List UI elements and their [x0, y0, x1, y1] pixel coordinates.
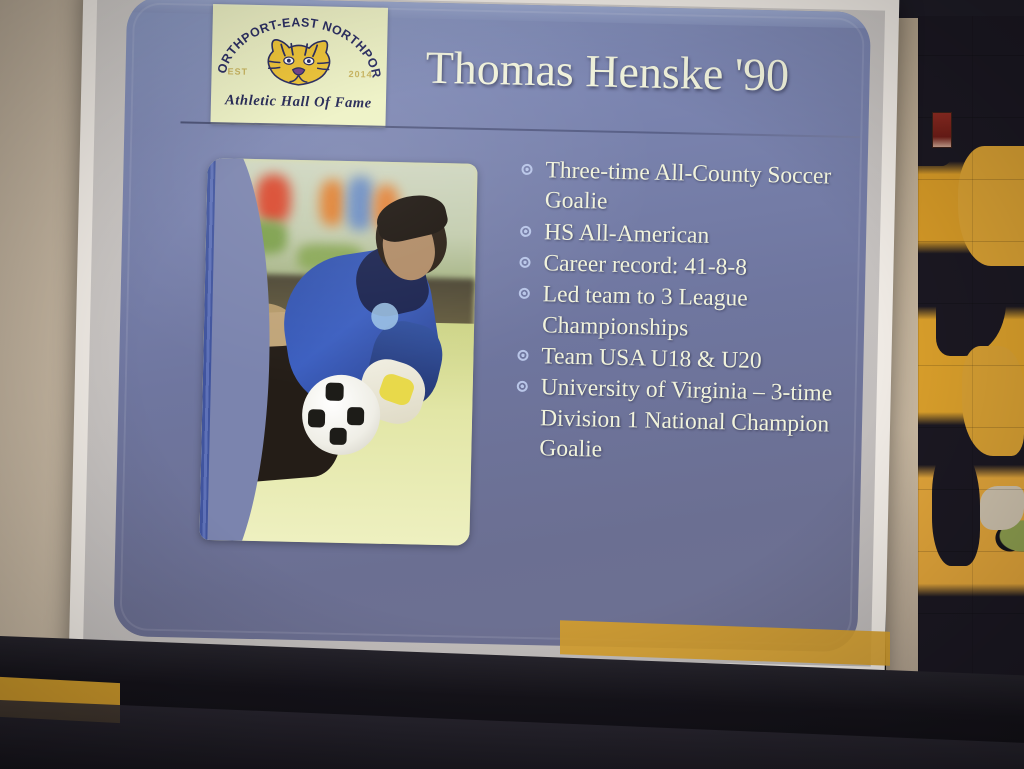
- ball-pentagon: [330, 428, 348, 445]
- bullet-marker-icon: [519, 257, 530, 268]
- ball-pentagon: [326, 382, 344, 400]
- list-item-text: HS All-American: [544, 219, 710, 249]
- logo-year-label: 2014: [348, 69, 372, 80]
- fire-alarm-box: [932, 112, 952, 148]
- title-divider-rule: [180, 121, 860, 138]
- photo-blur-spot: [255, 174, 291, 224]
- ball-pentagon: [347, 407, 364, 425]
- list-item: Led team to 3 League Championships: [516, 279, 847, 347]
- hall-of-fame-logo: NORTHPORT-EAST NORTHPORT: [210, 4, 388, 128]
- list-item-text: Career record: 41-8-8: [543, 250, 747, 280]
- list-item-text: Three-time All-County Soccer Goalie: [545, 157, 832, 215]
- bullet-marker-icon: [520, 225, 531, 236]
- list-item-text: Team USA U18 & U20: [541, 343, 762, 374]
- list-item: University of Virginia – 3-time Division…: [513, 372, 845, 470]
- bullet-marker-icon: [517, 381, 528, 392]
- ball-pentagon: [308, 409, 326, 427]
- projection-screen-surface: NORTHPORT-EAST NORTHPORT: [83, 0, 885, 667]
- achievements-list: Three-time All-County Soccer Goalie HS A…: [513, 155, 850, 471]
- slide-title: Thomas Henske '90: [425, 41, 846, 103]
- tiger-head-icon: [258, 31, 339, 91]
- list-item-text: Led team to 3 League Championships: [542, 282, 748, 341]
- logo-est-label: EST: [227, 66, 248, 76]
- logo-script-label: Athletic Hall Of Fame: [211, 92, 386, 113]
- room-photo-scene: NORTHPORT-EAST NORTHPORT: [0, 0, 1024, 769]
- projection-screen-frame: NORTHPORT-EAST NORTHPORT: [69, 0, 900, 685]
- bullet-marker-icon: [517, 350, 528, 361]
- photo-blur-spot: [320, 179, 345, 225]
- photo-blur-spot: [347, 176, 375, 230]
- goalkeeper-photo: [199, 158, 477, 546]
- presentation-slide: NORTHPORT-EAST NORTHPORT: [113, 0, 871, 652]
- list-item: Three-time All-County Soccer Goalie: [519, 155, 850, 223]
- list-item-text: University of Virginia – 3-time Division…: [539, 374, 832, 462]
- bullet-marker-icon: [521, 164, 532, 175]
- bullet-marker-icon: [519, 288, 530, 299]
